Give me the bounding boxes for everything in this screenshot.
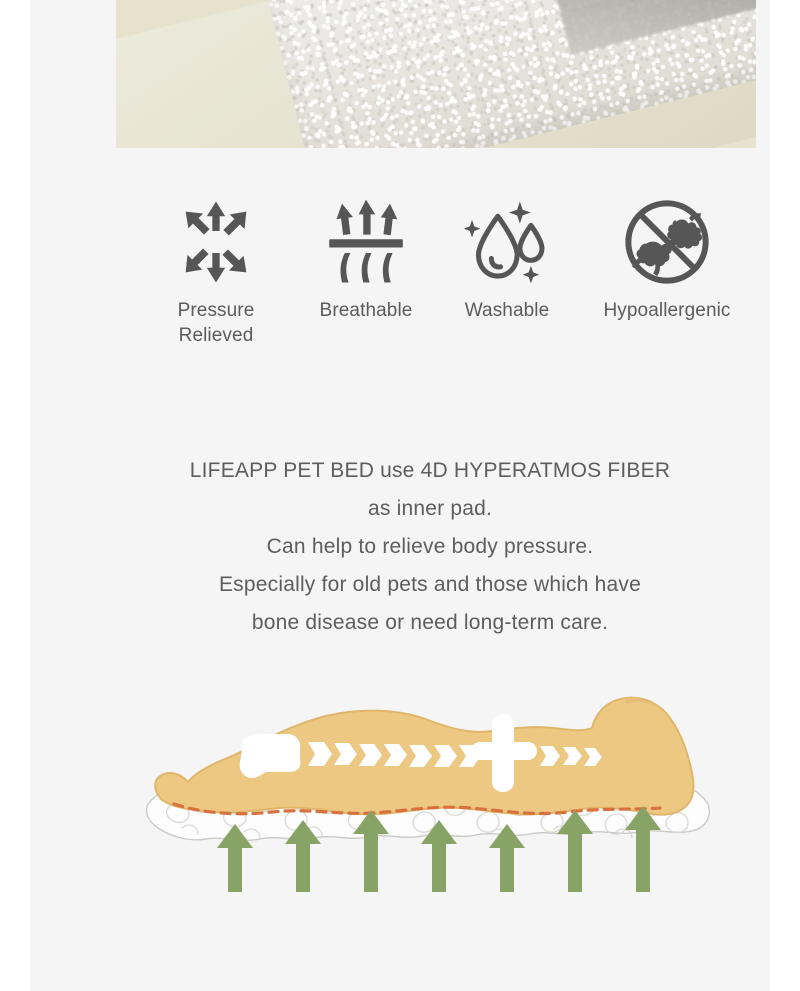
feature-icon-row: Pressure Relieved xyxy=(140,196,760,348)
feature-label: Breathable xyxy=(320,298,413,323)
description-line: Can help to relieve body pressure. xyxy=(60,528,800,566)
pet-spine-support-diagram xyxy=(140,676,720,896)
washable-droplet-icon xyxy=(461,196,553,288)
description-block: LIFEAPP PET BED use 4D HYPERATMOS FIBER … xyxy=(60,452,800,642)
hypoallergenic-no-mite-icon xyxy=(621,196,713,288)
feature-pressure-relieved: Pressure Relieved xyxy=(140,196,292,348)
description-line: Especially for old pets and those which … xyxy=(60,566,800,604)
description-line: bone disease or need long-term care. xyxy=(60,604,800,642)
description-line: as inner pad. xyxy=(60,490,800,528)
breathable-airflow-icon xyxy=(320,196,412,288)
description-line: LIFEAPP PET BED use 4D HYPERATMOS FIBER xyxy=(60,452,800,490)
feature-washable: Washable xyxy=(440,196,574,323)
foam-fiber-closeup-photo xyxy=(116,0,756,148)
pressure-relief-arrows-icon xyxy=(170,196,262,288)
feature-breathable: Breathable xyxy=(292,196,440,323)
infographic-page: Pressure Relieved xyxy=(0,0,800,991)
feature-label: Pressure Relieved xyxy=(178,298,255,348)
feature-label: Washable xyxy=(465,298,550,323)
feature-label: Hypoallergenic xyxy=(603,298,730,323)
feature-hypoallergenic: Hypoallergenic xyxy=(574,196,760,323)
content-column: Pressure Relieved xyxy=(30,0,770,991)
